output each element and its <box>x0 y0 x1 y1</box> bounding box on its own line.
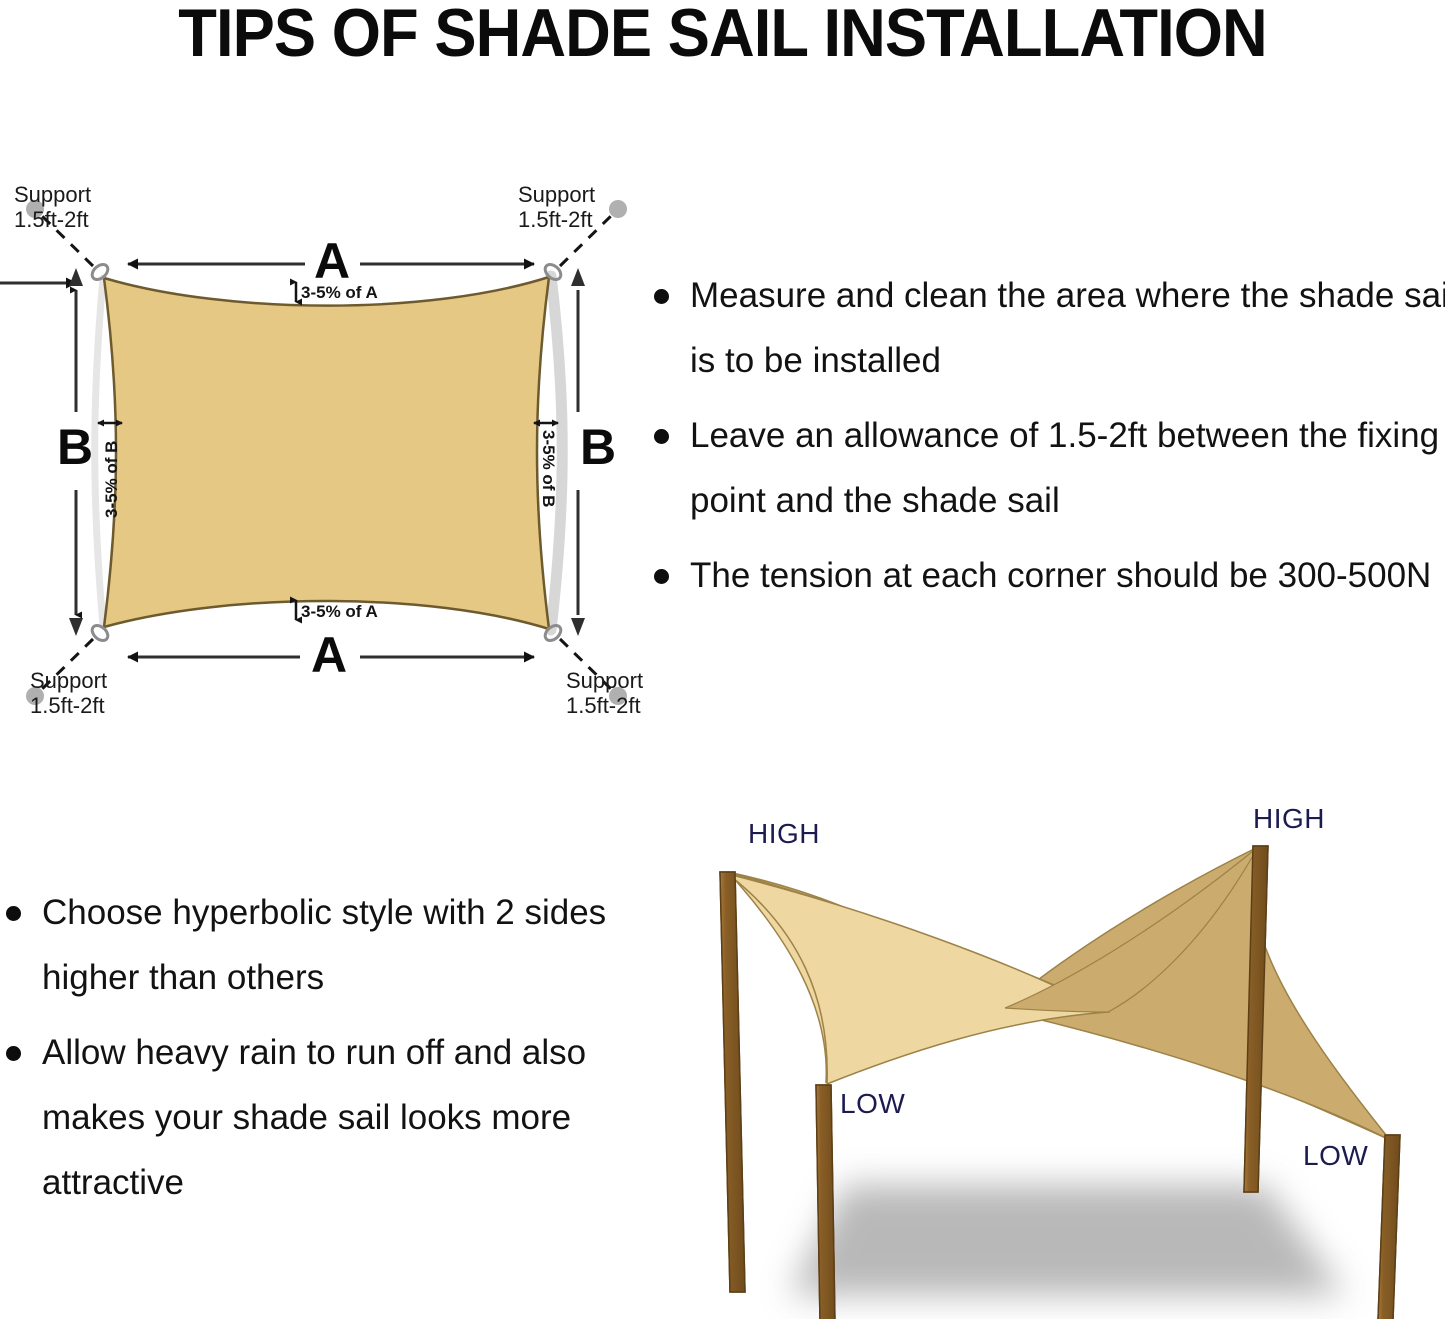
dimension-letter-a-top: A <box>314 236 350 286</box>
support-label-line1: Support <box>518 182 595 207</box>
sail-panel-left <box>728 874 1108 1084</box>
post-high-right <box>1244 846 1268 1192</box>
curve-note-a-bottom: 3-5% of A <box>301 603 378 620</box>
support-label-line2: 1.5ft-2ft <box>566 693 643 718</box>
list-item: Choose hyperbolic style with 2 sides hig… <box>0 880 642 1010</box>
curve-note-a-top: 3-5% of A <box>301 284 378 301</box>
hyperbolic-tips-list: Choose hyperbolic style with 2 sides hig… <box>0 880 642 1225</box>
infographic-page: TIPS OF SHADE SAIL INSTALLATION <box>0 0 1445 1319</box>
sail-panel-upper-span <box>728 847 1258 1010</box>
list-item: Allow heavy rain to run off and also mak… <box>0 1020 642 1215</box>
post-low-right-front <box>1378 1135 1400 1319</box>
corner-grommets <box>89 262 563 644</box>
shade-sail-shape <box>104 277 549 629</box>
support-label-line2: 1.5ft-2ft <box>30 693 107 718</box>
page-title: TIPS OF SHADE SAIL INSTALLATION <box>51 0 1395 72</box>
label-high-left: HIGH <box>748 818 820 850</box>
support-label-top-right: Support 1.5ft-2ft <box>518 182 595 232</box>
post-low-left <box>816 1085 836 1319</box>
dimension-letter-b-left: B <box>57 422 93 472</box>
post-high-left <box>720 872 745 1292</box>
post-high-right-front <box>1244 846 1268 1192</box>
curve-depth-ticks <box>98 282 558 620</box>
dimension-letter-b-right: B <box>580 422 616 472</box>
support-label-line2: 1.5ft-2ft <box>14 207 91 232</box>
sail-panel-right <box>1000 848 1390 1140</box>
support-label-bottom-right: Support 1.5ft-2ft <box>566 668 643 718</box>
list-item: Leave an allowance of 1.5-2ft between th… <box>648 403 1445 533</box>
label-low-left: LOW <box>840 1088 905 1120</box>
post-high-left-front <box>720 872 745 1292</box>
post-low-left-front <box>816 1085 836 1319</box>
sail-panel-right-lower <box>1079 846 1390 1140</box>
support-label-top-left: Support 1.5ft-2ft <box>14 182 91 232</box>
list-item: The tension at each corner should be 300… <box>648 543 1445 608</box>
curve-note-b-right: 3-5% of B <box>540 430 557 507</box>
label-low-right: LOW <box>1303 1140 1368 1172</box>
sail-overlap-wedge <box>1005 847 1258 1012</box>
installation-tips-list: Measure and clean the area where the sha… <box>648 263 1445 618</box>
dimension-letter-a-bottom: A <box>311 630 347 680</box>
list-item: Measure and clean the area where the sha… <box>648 263 1445 393</box>
support-label-bottom-left: Support 1.5ft-2ft <box>30 668 107 718</box>
support-label-line1: Support <box>566 668 643 693</box>
support-label-line1: Support <box>14 182 91 207</box>
curve-note-b-left: 3-5% of B <box>103 441 120 518</box>
support-label-line2: 1.5ft-2ft <box>518 207 595 232</box>
sail-panel-left-upper <box>728 872 1005 1082</box>
label-high-right: HIGH <box>1253 803 1325 835</box>
post-low-right <box>1378 1135 1400 1319</box>
ground-shadow <box>790 1185 1345 1295</box>
support-label-line1: Support <box>30 668 107 693</box>
